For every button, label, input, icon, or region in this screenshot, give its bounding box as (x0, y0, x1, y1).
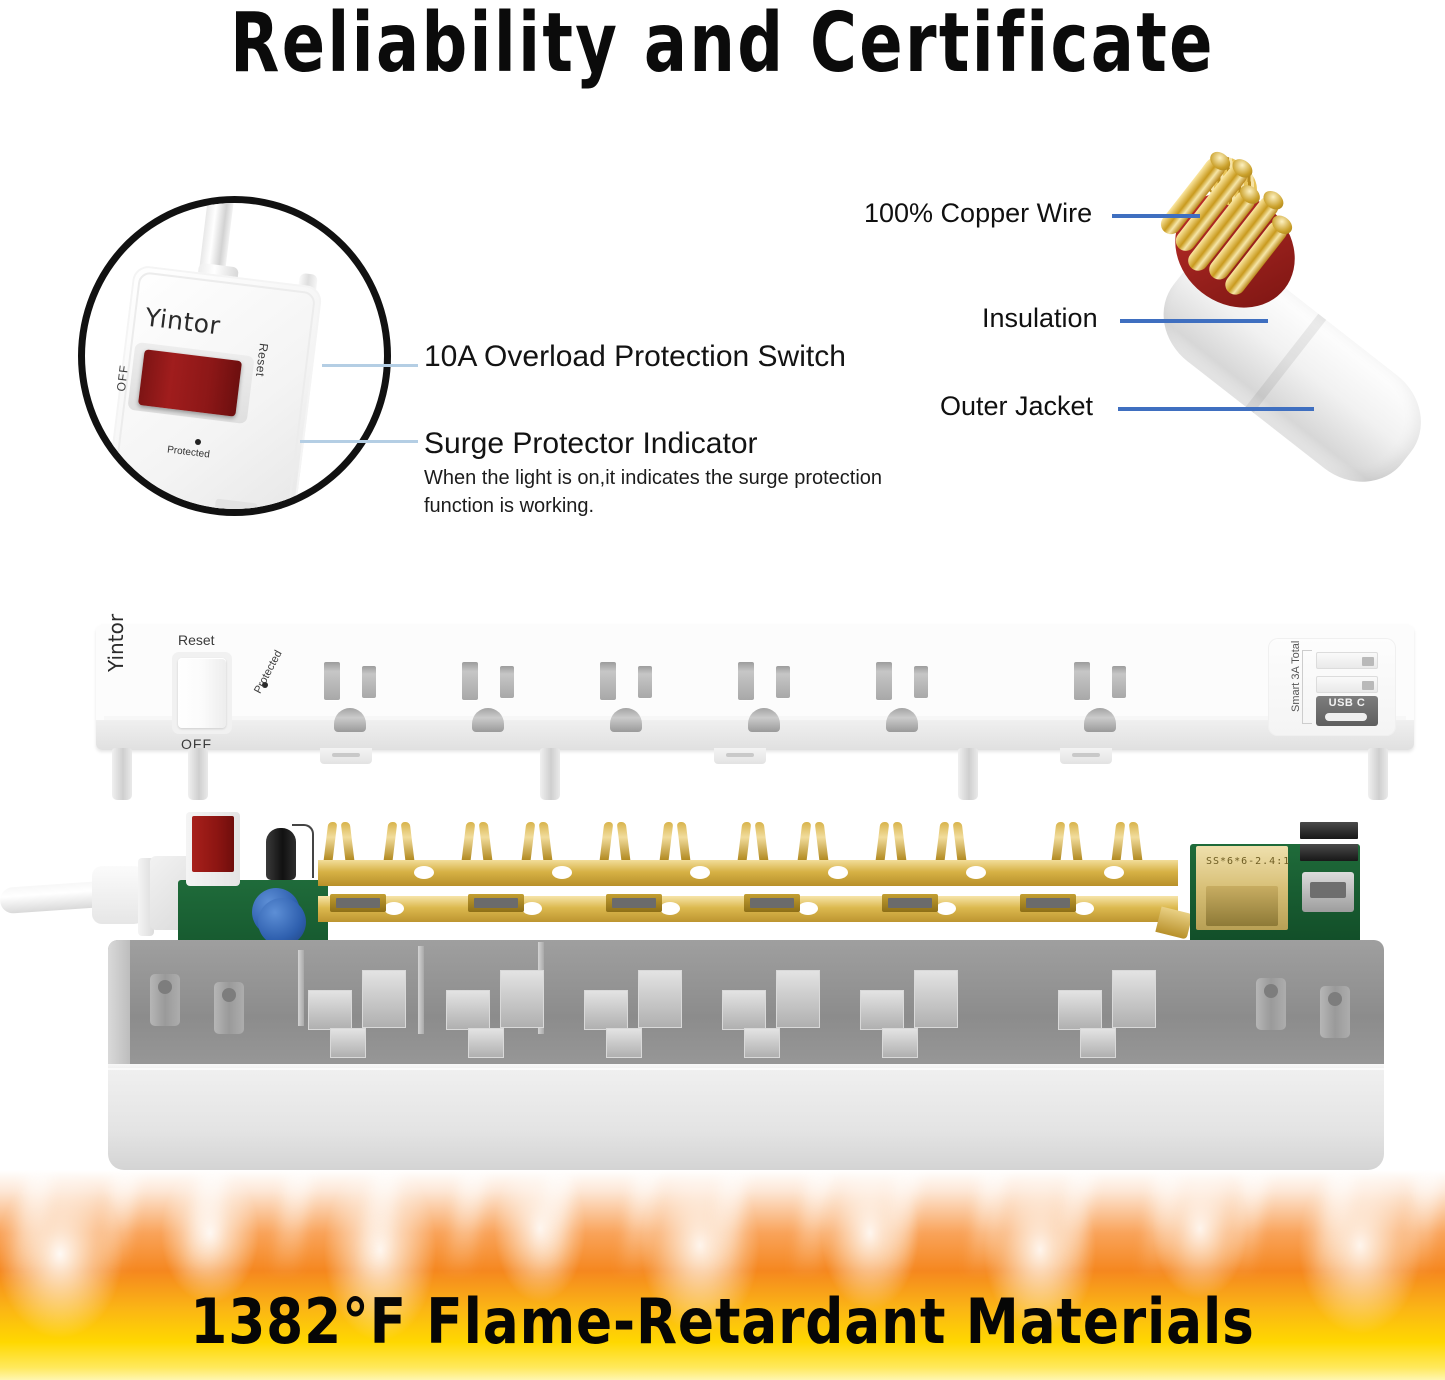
busbar-hole (384, 902, 404, 915)
busbar-hole (1104, 866, 1124, 879)
power-strip-bottom-housing (108, 940, 1384, 1170)
housing-front-face (108, 1068, 1384, 1170)
usb-c-label: USB C (1319, 697, 1375, 709)
busbar-contact-clip (938, 822, 964, 862)
outer-jacket-label: Outer Jacket (940, 391, 1093, 422)
outlet-divider (914, 970, 958, 1028)
outlet-hot-slot (914, 666, 928, 698)
usb-port-panel: USB C (1268, 638, 1396, 736)
busbar-blade-contact (744, 894, 800, 912)
busbar-contact-clip (464, 822, 490, 862)
cover-screw-post (540, 748, 560, 800)
outlet-hot-slot (776, 666, 790, 698)
strip-brand-label: Yintor (104, 614, 128, 672)
outlet-divider (500, 970, 544, 1028)
contact-blade-icon (1026, 898, 1070, 908)
varistor-component (258, 898, 306, 946)
outlet-hot-slot (500, 666, 514, 698)
outlet-ground-slot (748, 708, 780, 732)
latch-slot-icon (726, 753, 754, 757)
ac-outlet[interactable] (318, 662, 404, 734)
ac-outlet[interactable] (456, 662, 542, 734)
busbar-blade-contact (606, 894, 662, 912)
outlet-neutral-slot (324, 662, 340, 700)
busbar-contact-clip (386, 822, 412, 862)
outlet-divider (1112, 970, 1156, 1028)
magnifier-circle: Yintor OFF Reset Protected (78, 196, 391, 516)
busbar-contact-clip (878, 822, 904, 862)
usb-c-port[interactable]: USB C (1316, 696, 1378, 726)
busbar-contact-clip (800, 822, 826, 862)
ac-outlet[interactable] (594, 662, 680, 734)
busbar-contact-clip (740, 822, 766, 862)
outlet-ground-slot (886, 708, 918, 732)
outlet-neutral-slot (1074, 662, 1090, 700)
outlet-ground-slot (334, 708, 366, 732)
busbar-blade-contact (468, 894, 524, 912)
surge-leader-line (300, 440, 418, 443)
busbar-contact-clip (1114, 822, 1140, 862)
outlet-divider (860, 990, 904, 1030)
busbar-blade-contact (1020, 894, 1076, 912)
outlet-divider (446, 990, 490, 1030)
magnified-overload-switch[interactable] (138, 349, 242, 417)
ac-outlet[interactable] (870, 662, 956, 734)
busbar-hole (798, 902, 818, 915)
contact-blade-icon (336, 898, 380, 908)
usb-a-tongue-icon (1362, 657, 1374, 666)
outlet-divider (744, 1028, 780, 1058)
copper-wire-label: 100% Copper Wire (864, 198, 1092, 229)
busbar-upper-rail (318, 860, 1178, 886)
internal-usb-a-port (1300, 822, 1358, 839)
outlet-divider (722, 990, 766, 1030)
busbar-contact-clip (1054, 822, 1080, 862)
copper-wire-leader-line (1112, 214, 1200, 218)
busbar-contact-clip (326, 822, 352, 862)
contact-blade-icon (612, 898, 656, 908)
outlet-neutral-slot (600, 662, 616, 700)
contact-blade-icon (750, 898, 794, 908)
outlet-ground-slot (472, 708, 504, 732)
outlet-neutral-slot (876, 662, 892, 700)
page-title: Reliability and Certificate (159, 0, 1286, 91)
cable-cross-section-illustration (1160, 160, 1445, 440)
cover-latch-tab (714, 748, 766, 764)
outlet-divider (330, 1028, 366, 1058)
outlet-divider (1058, 990, 1102, 1030)
outlet-hot-slot (1112, 666, 1126, 698)
housing-screw-boss (1256, 978, 1286, 1030)
outlet-divider (1080, 1028, 1116, 1058)
insulation-label: Insulation (982, 303, 1098, 334)
surge-callout-heading: Surge Protector Indicator (424, 427, 758, 461)
busbar-hole (660, 902, 680, 915)
outer-jacket-leader-line (1118, 407, 1314, 411)
busbar-hole (828, 866, 848, 879)
housing-screw-boss (214, 982, 244, 1034)
housing-screw-boss (150, 974, 180, 1026)
contact-blade-icon (474, 898, 518, 908)
outlet-ground-slot (1084, 708, 1116, 732)
busbar-hole (522, 902, 542, 915)
transformer-base (1206, 886, 1278, 926)
magnified-indicator-led (195, 439, 201, 445)
transformer-code-label: SS*6*6-2.4:1 (1206, 856, 1290, 867)
usb-a-port[interactable] (1316, 676, 1378, 693)
usb-c-slot-icon (1325, 713, 1367, 721)
usb-a-port[interactable] (1316, 652, 1378, 669)
outlet-divider (584, 990, 628, 1030)
busbar-contact-clip (602, 822, 628, 862)
outlet-hot-slot (362, 666, 376, 698)
cover-screw-post (112, 748, 132, 800)
insulation-leader-line (1120, 319, 1268, 323)
outlet-divider (362, 970, 406, 1028)
usb-c-shell-icon (1310, 882, 1346, 898)
outlet-hot-slot (638, 666, 652, 698)
housing-rib (418, 946, 424, 1034)
switch-red-face (192, 816, 234, 872)
flame-tips-overlay (0, 1170, 1445, 1290)
capacitor-wire (292, 824, 314, 878)
outlet-divider (606, 1028, 642, 1058)
busbar-contact-clip (662, 822, 688, 862)
outlet-divider (638, 970, 682, 1028)
latch-slot-icon (332, 753, 360, 757)
housing-rib (298, 950, 304, 1026)
cover-screw-post (958, 748, 978, 800)
cover-screw-post (188, 748, 208, 800)
housing-screw-boss (1320, 986, 1350, 1038)
internal-usb-a-port (1300, 844, 1358, 861)
overload-leader-line (322, 364, 418, 367)
ac-outlet[interactable] (1068, 662, 1154, 734)
cover-latch-tab (320, 748, 372, 764)
outlet-divider (468, 1028, 504, 1058)
copper-busbar-assembly (318, 838, 1178, 930)
contact-blade-icon (888, 898, 932, 908)
flame-retardant-title: 1382°F Flame-Retardant Materials (101, 1285, 1344, 1358)
busbar-hole (414, 866, 434, 879)
strip-overload-switch[interactable] (178, 658, 226, 728)
outlet-divider (882, 1028, 918, 1058)
busbar-hole (690, 866, 710, 879)
busbar-hole (1074, 902, 1094, 915)
surge-callout-description: When the light is on,it indicates the su… (424, 464, 894, 520)
outlet-divider (776, 970, 820, 1028)
cover-latch-tab (1060, 748, 1112, 764)
busbar-hole (966, 866, 986, 879)
latch-slot-icon (1072, 753, 1100, 757)
usb-smart-bracket (1302, 650, 1312, 724)
overload-callout-heading: 10A Overload Protection Switch (424, 340, 846, 374)
outlet-ground-slot (610, 708, 642, 732)
usb-a-tongue-icon (1362, 681, 1374, 690)
busbar-blade-contact (882, 894, 938, 912)
internal-overload-switch (186, 812, 240, 886)
outlet-neutral-slot (462, 662, 478, 700)
usb-smart-label: Smart 3A Total (1290, 641, 1302, 712)
infographic-page: Reliability and Certificate Yintor OFF R… (0, 0, 1445, 1380)
ac-outlet[interactable] (732, 662, 818, 734)
busbar-hole (936, 902, 956, 915)
internal-usb-c-port (1302, 872, 1354, 912)
busbar-hole (552, 866, 572, 879)
busbar-contact-clip (524, 822, 550, 862)
busbar-blade-contact (330, 894, 386, 912)
outlet-divider (308, 990, 352, 1030)
cover-screw-post (1368, 748, 1388, 800)
strip-reset-label: Reset (178, 632, 215, 648)
busbar-terminal-end (1155, 907, 1192, 940)
outlet-neutral-slot (738, 662, 754, 700)
